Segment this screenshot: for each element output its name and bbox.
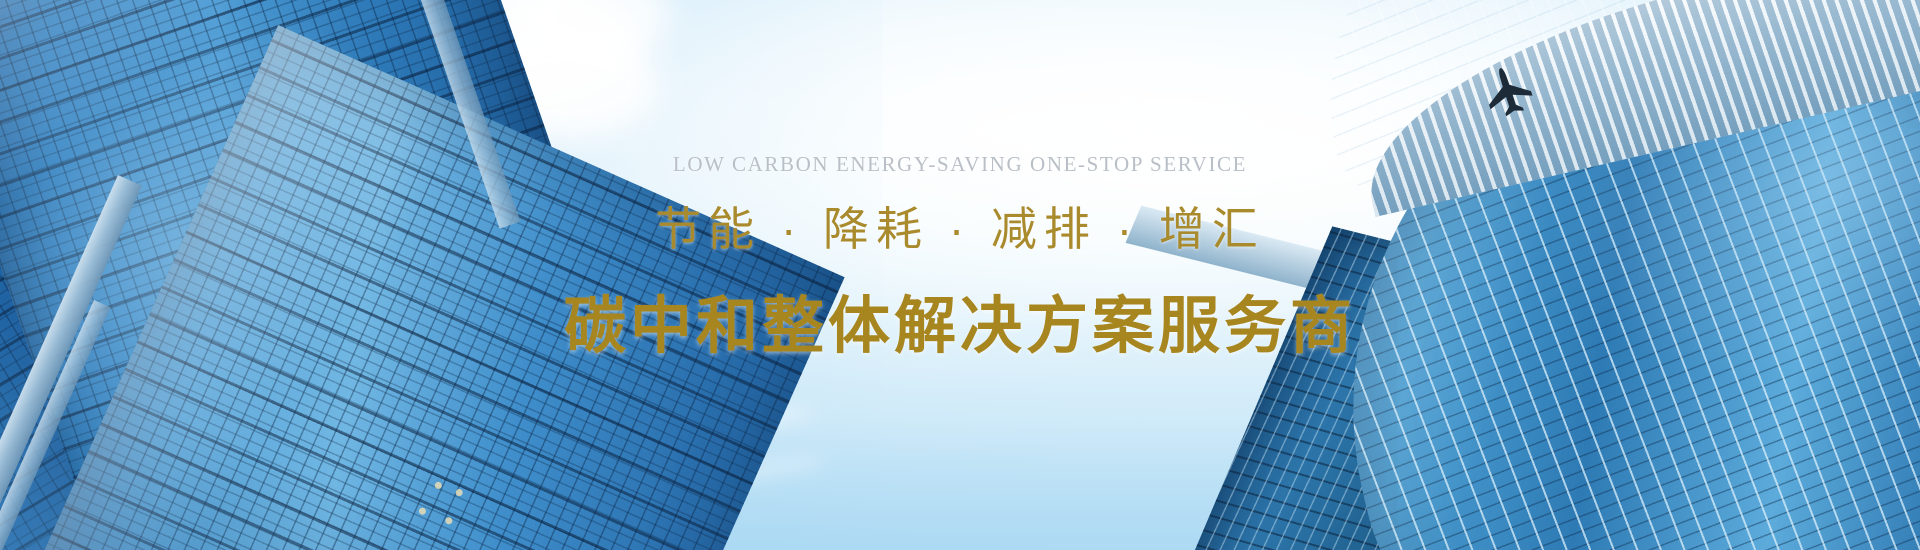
- hero-banner: LOW CARBON ENERGY-SAVING ONE-STOP SERVIC…: [0, 0, 1920, 550]
